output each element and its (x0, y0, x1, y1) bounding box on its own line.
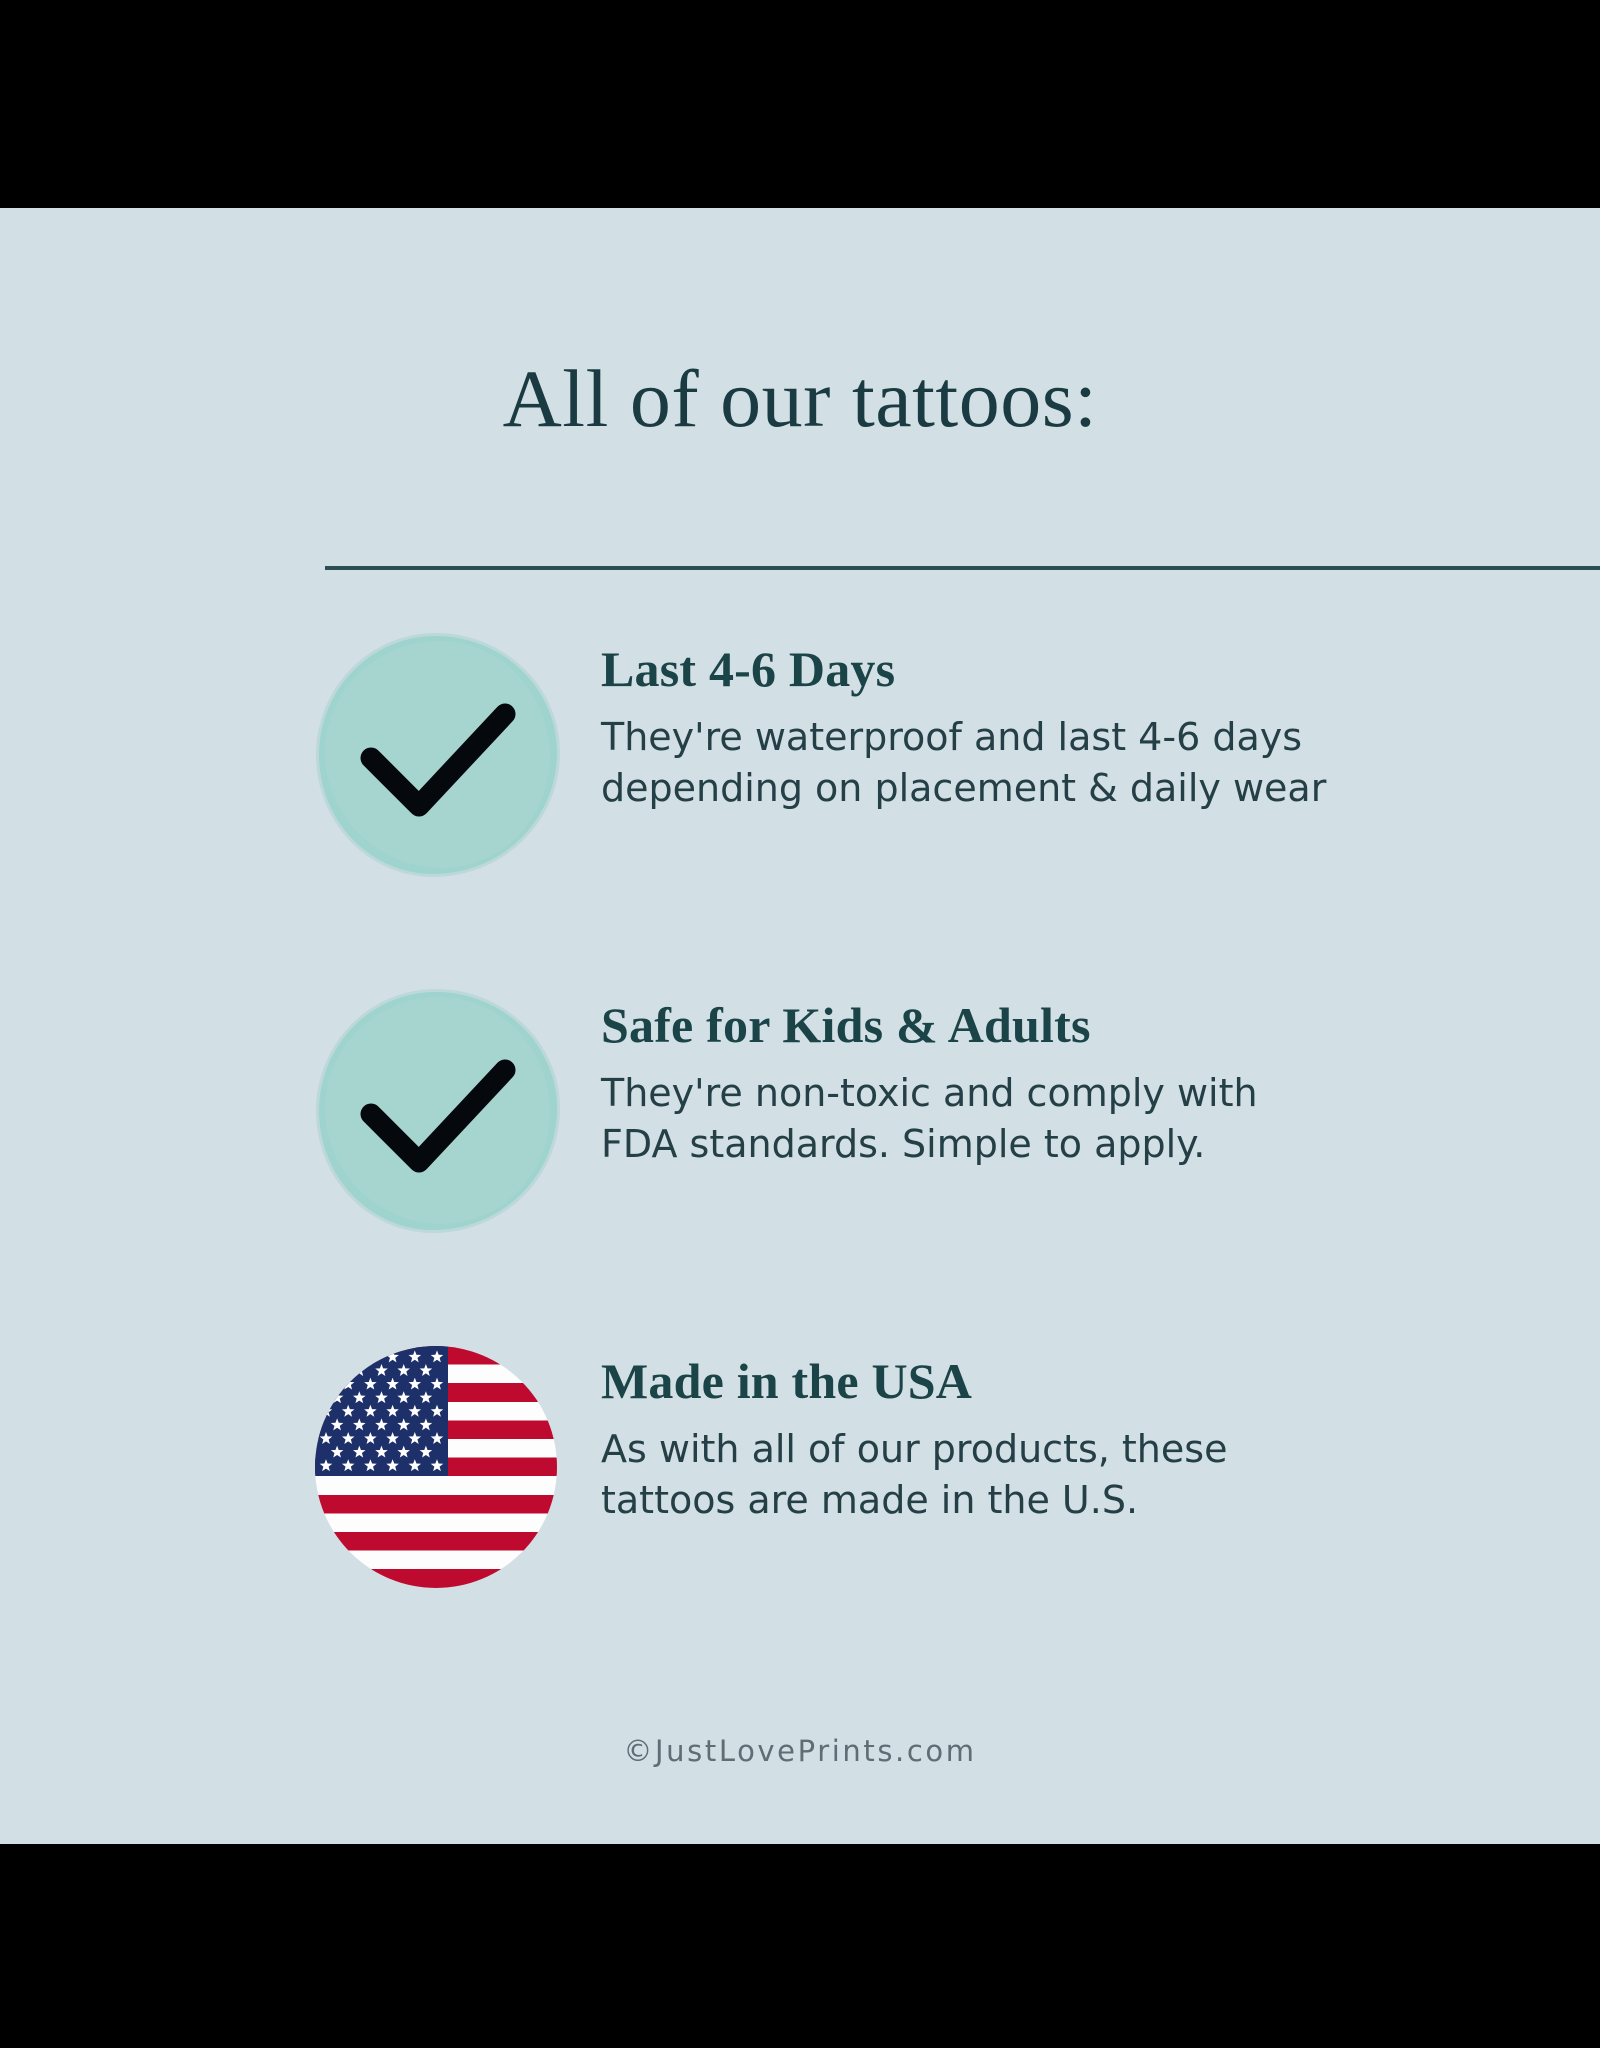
feature-heading: Made in the USA (601, 1354, 1600, 1408)
screenshot-stage: All of our tattoos: Last 4-6 Days (0, 0, 1600, 2048)
feature-heading: Safe for Kids & Adults (601, 998, 1600, 1052)
flag-stars-icon (315, 1346, 448, 1476)
feature-body-line: As with all of our products, these (601, 1424, 1401, 1475)
page-title: All of our tattoos: (0, 358, 1600, 440)
footer-credit: ©JustLovePrints.com (0, 1734, 1600, 1768)
list-item: Made in the USA As with all of our produ… (0, 1330, 1600, 1600)
feature-list: Last 4-6 Days They're waterproof and las… (0, 618, 1600, 1686)
feature-body: As with all of our products, these tatto… (601, 1424, 1401, 1526)
feature-text: Last 4-6 Days They're waterproof and las… (567, 618, 1600, 814)
feature-text: Made in the USA As with all of our produ… (567, 1330, 1600, 1526)
letterbox-bar-top (0, 0, 1600, 208)
usa-flag-icon (315, 1346, 557, 1588)
feature-text: Safe for Kids & Adults They're non-toxic… (567, 974, 1600, 1170)
feature-body-line: They're waterproof and last 4-6 days (601, 712, 1401, 763)
feature-icon-wrap (305, 620, 567, 882)
check-circle-icon (319, 636, 557, 874)
letterbox-bar-bottom (0, 1844, 1600, 2048)
checkmark-icon (319, 636, 557, 874)
feature-body-line: depending on placement & daily wear (601, 763, 1401, 814)
feature-body-line: They're non-toxic and comply with (601, 1068, 1401, 1119)
flag-canton (315, 1346, 448, 1476)
feature-body-line: FDA standards. Simple to apply. (601, 1119, 1401, 1170)
feature-body-line: tattoos are made in the U.S. (601, 1475, 1401, 1526)
feature-body: They're non-toxic and comply with FDA st… (601, 1068, 1401, 1170)
infographic-card: All of our tattoos: Last 4-6 Days (0, 208, 1600, 1844)
feature-icon-wrap (305, 976, 567, 1238)
check-circle-icon (319, 992, 557, 1230)
feature-heading: Last 4-6 Days (601, 642, 1600, 696)
title-divider (325, 566, 1600, 570)
checkmark-icon (319, 992, 557, 1230)
feature-icon-wrap (305, 1332, 567, 1594)
list-item: Safe for Kids & Adults They're non-toxic… (0, 974, 1600, 1244)
feature-body: They're waterproof and last 4-6 days dep… (601, 712, 1401, 814)
list-item: Last 4-6 Days They're waterproof and las… (0, 618, 1600, 888)
